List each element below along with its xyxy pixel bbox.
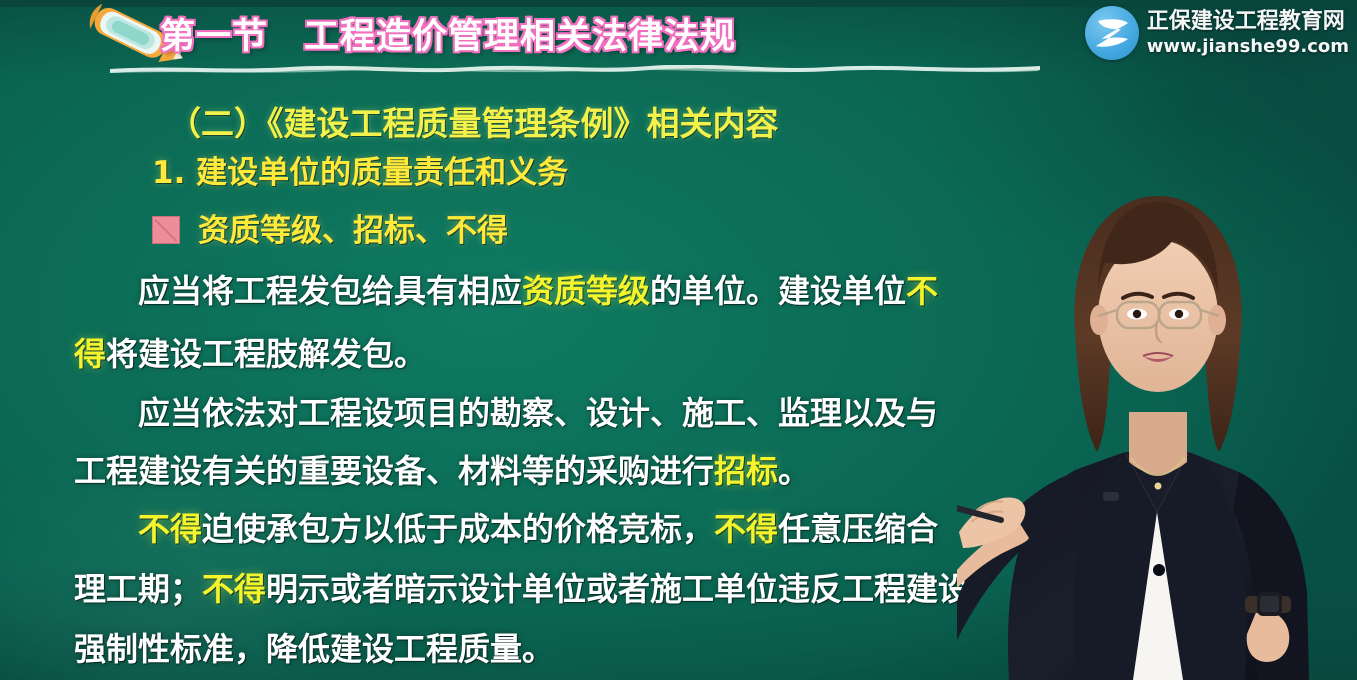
highlighted-text: 不 <box>906 272 938 310</box>
subheading-1: 1. 建设单位的质量责任和义务 <box>152 147 568 192</box>
keyword-bullet-row: 资质等级、招标、不得 <box>152 205 508 250</box>
keyword-bullet-label: 资质等级、招标、不得 <box>198 213 508 249</box>
paragraph-1-line-2: 得将建设工程肢解发包。 <box>74 329 426 375</box>
highlighted-text: 不得 <box>202 570 266 608</box>
square-bullet-icon <box>152 216 180 244</box>
body-text: 。 <box>778 452 810 490</box>
paragraph-3-line-2: 理工期；不得明示或者暗示设计单位或者施工单位违反工程建设 <box>74 564 970 610</box>
logo-site-name: 正保建设工程教育网 <box>1147 11 1349 33</box>
body-text: 理工期； <box>74 570 202 608</box>
body-text: 迫使承包方以低于成本的价格竞标， <box>202 510 714 548</box>
slide-header: 第一节 工程造价管理相关法律法规 <box>0 0 1040 86</box>
paragraph-2-line-2: 工程建设有关的重要设备、材料等的采购进行招标。 <box>74 446 810 492</box>
body-text: 工程建设有关的重要设备、材料等的采购进行 <box>74 452 714 490</box>
paragraph-2-line-1: 应当依法对工程设项目的勘察、设计、施工、监理以及与 <box>74 388 938 434</box>
highlighted-text: 不得 <box>138 510 202 548</box>
paragraph-3-line-1: 不得迫使承包方以低于成本的价格竞标，不得任意压缩合 <box>74 504 938 550</box>
page-title: 第一节 工程造价管理相关法律法规 <box>160 8 736 59</box>
body-text: 将建设工程肢解发包。 <box>106 335 426 373</box>
highlighted-text: 得 <box>74 335 106 373</box>
paragraph-1-line-1: 应当将工程发包给具有相应资质等级的单位。建设单位不 <box>74 266 938 312</box>
body-text <box>74 510 138 548</box>
highlighted-text: 招标 <box>714 452 778 490</box>
paragraph-3-line-3: 强制性标准，降低建设工程质量。 <box>74 624 554 670</box>
body-text: 明示或者暗示设计单位或者施工单位违反工程建设 <box>266 570 970 608</box>
logo-site-url: www.jianshe99.com <box>1147 38 1349 56</box>
zhengbao-z-logo-icon <box>1085 6 1139 60</box>
site-watermark-logo: 正保建设工程教育网 www.jianshe99.com <box>1085 2 1349 64</box>
lecture-video-frame: 第一节 工程造价管理相关法律法规 正保建设工程教育网 www.jianshe99… <box>0 0 1357 680</box>
section-heading: （二）《建设工程质量管理条例》相关内容 <box>168 97 779 145</box>
body-text: 的单位。建设单位 <box>650 272 906 310</box>
highlighted-text: 资质等级 <box>522 272 650 310</box>
highlighted-text: 不得 <box>714 510 778 548</box>
body-text: 强制性标准，降低建设工程质量。 <box>74 630 554 668</box>
chalk-underline <box>110 61 1040 70</box>
body-text: 任意压缩合 <box>778 510 938 548</box>
body-text: 应当依法对工程设项目的勘察、设计、施工、监理以及与 <box>74 394 938 432</box>
presenter-video-overlay <box>957 140 1357 680</box>
body-text: 应当将工程发包给具有相应 <box>74 272 522 310</box>
